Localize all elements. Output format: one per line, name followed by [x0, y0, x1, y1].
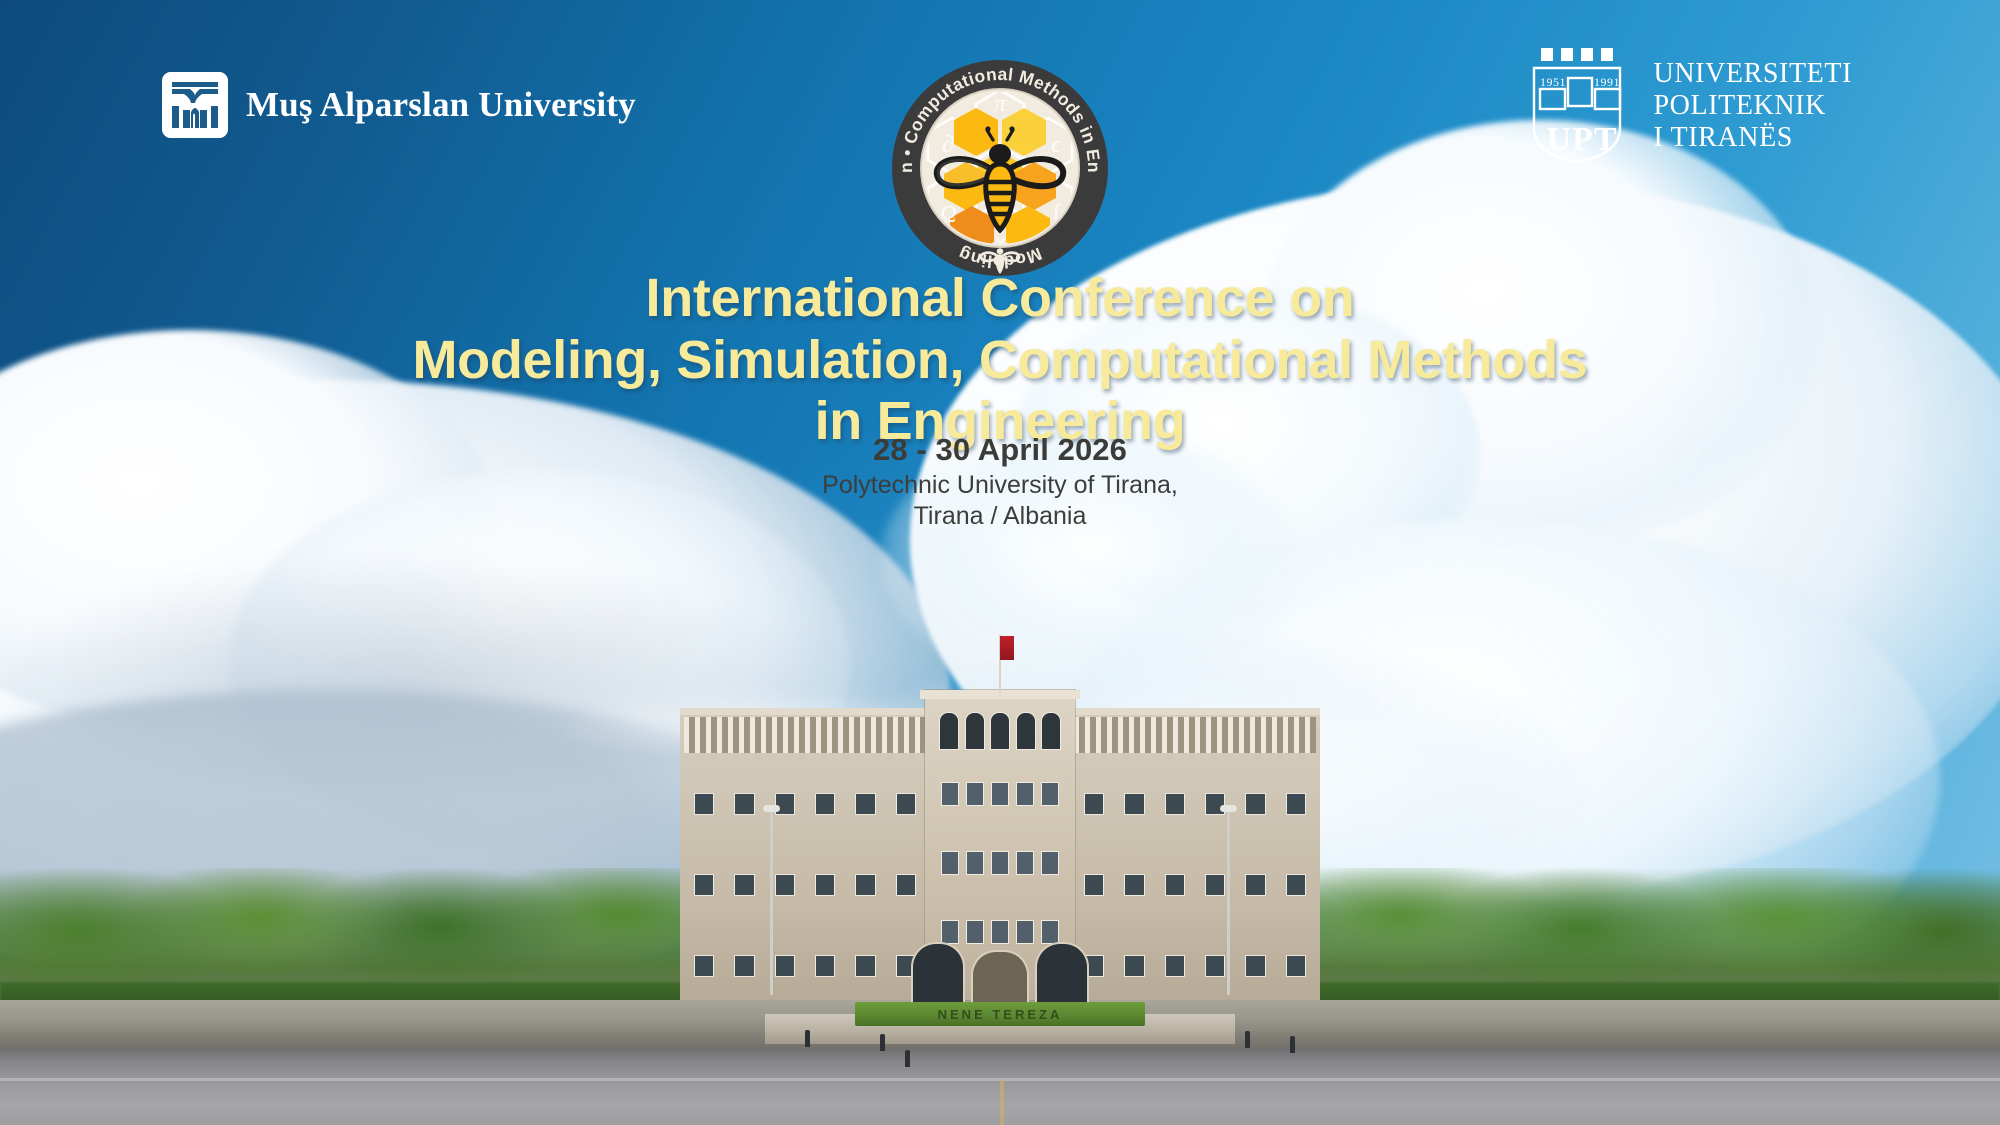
logo-universiteti-politeknik-i-tiranes[interactable]: 1951 1991 UPT UNIVERSITETI POLITEKNIK I … [1526, 44, 1853, 171]
logo-mus-alparslan-university[interactable]: Muş Alparslan University [162, 72, 636, 138]
conference-banner: NENE TEREZA Muş Alparslan University [0, 0, 2000, 1125]
building-main-entrance [911, 940, 1089, 1002]
svg-text:1951: 1951 [1540, 75, 1566, 89]
svg-text:1991: 1991 [1594, 75, 1620, 89]
conference-meta: 28 - 30 April 2026 Polytechnic Universit… [0, 430, 2000, 533]
left-wing-cornice [680, 708, 930, 715]
right-wing-cornice [1070, 708, 1320, 715]
conference-venue-line-1: Polytechnic University of Tirana, [0, 470, 2000, 502]
street-lamp-right [1227, 810, 1230, 995]
mau-wordmark: Muş Alparslan University [246, 85, 636, 125]
left-wing-windows [690, 764, 920, 1005]
polytechnic-university-building [680, 690, 1320, 1020]
upt-line-2: POLITEKNIK [1654, 90, 1853, 122]
pedestrian [905, 1050, 910, 1067]
upt-line-3: I TIRANËS [1654, 122, 1853, 154]
upt-line-1: UNIVERSITETI [1654, 58, 1853, 90]
upt-crest-icon: 1951 1991 UPT [1526, 44, 1638, 171]
right-wing-colonnade [1074, 717, 1316, 753]
pedestrian [1245, 1031, 1250, 1048]
conference-emblem[interactable]: π ∂ ϵ Ω ∫ χ [888, 56, 1112, 280]
entrance-arch-right [1035, 942, 1089, 1002]
title-line-2: Modeling, Simulation, Computational Meth… [0, 330, 2000, 392]
conference-venue-line-2: Tirana / Albania [0, 501, 2000, 533]
upt-wordmark: UNIVERSITETI POLITEKNIK I TIRANËS [1654, 44, 1853, 154]
building-left-wing [680, 708, 930, 1000]
entrance-arch-left [911, 942, 965, 1002]
mau-book-arch-mark-icon [162, 72, 228, 138]
street-lamp-left [770, 810, 773, 995]
albanian-flag [1000, 636, 1014, 660]
svg-text:ϵ: ϵ [1051, 132, 1062, 158]
conference-title: International Conference on Modeling, Si… [0, 268, 2000, 453]
right-wing-windows [1080, 764, 1310, 1005]
title-line-1: International Conference on [0, 268, 2000, 330]
hedge-sign-label: NENE TEREZA [938, 1007, 1063, 1022]
conference-dates: 28 - 30 April 2026 [0, 430, 2000, 470]
svg-text:∂: ∂ [942, 132, 954, 158]
pedestrian [805, 1030, 810, 1047]
tower-windows [941, 770, 1059, 955]
pedestrian [1290, 1036, 1295, 1053]
building-right-wing [1070, 708, 1320, 1000]
hedge-sign: NENE TEREZA [855, 1002, 1145, 1026]
left-wing-colonnade [684, 717, 926, 753]
tower-arched-loggia [939, 712, 1061, 748]
plaza-road-marking [1000, 1080, 1004, 1125]
entrance-arch-center [971, 950, 1029, 1002]
pedestrian [880, 1034, 885, 1051]
svg-text:π: π [994, 91, 1007, 117]
svg-text:UPT: UPT [1546, 121, 1617, 158]
